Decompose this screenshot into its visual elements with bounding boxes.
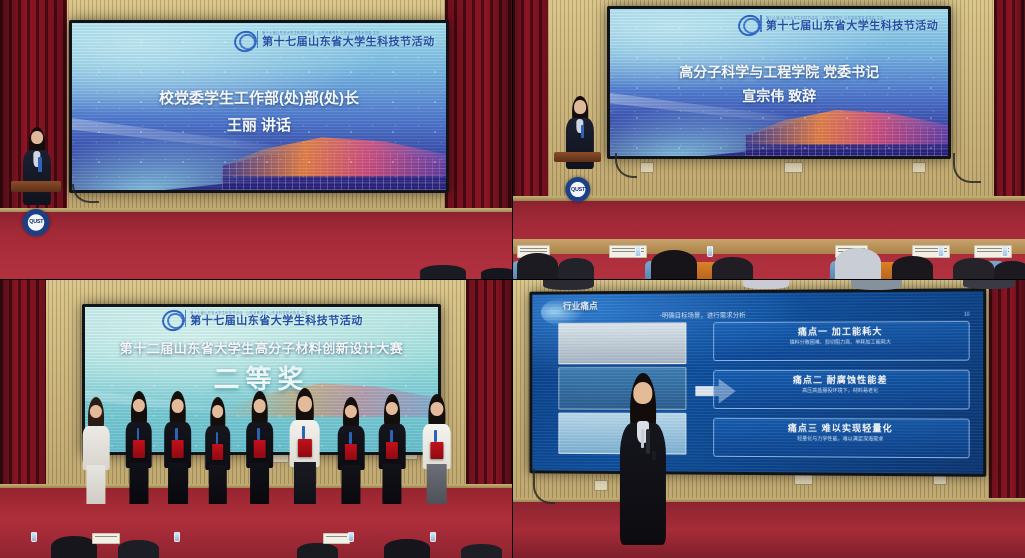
water-bottle [430,532,436,542]
foreground-head [963,279,1014,289]
water-bottle [707,246,713,257]
audience-person [297,543,338,558]
foreground-head [543,279,594,290]
competition-title: 第十二届山东省大学生高分子材料创新设计大赛 [85,340,438,358]
wall-socket [640,162,654,173]
presenter [620,382,666,538]
panel-bottom-right: 行业痛点 -明确目标场景，进行需求分析 10 痛点一 加工能耗大 填料分散困难、… [512,279,1025,558]
audience-person [953,258,994,279]
awardee [338,405,365,503]
award-certificate [345,444,357,461]
slide-title-line1: 高分子科学与工程学院 党委书记 [610,63,949,82]
audience-person [994,261,1025,279]
water-bottle [348,532,354,542]
slide-background: 行业痛点 -明确目标场景，进行需求分析 10 痛点一 加工能耗大 填料分散困难、… [532,291,983,473]
water-bottle [938,246,944,257]
pain-point-2: 痛点二 耐腐蚀性能差 高压高盐服役环境下，材料易老化 [713,370,969,410]
award-certificate [171,440,184,458]
audience-person [118,540,159,558]
awardee [379,402,406,502]
slide-title-line1: 校党委学生工作部(处)部(处)长 [72,89,446,109]
award-certificate [212,444,224,461]
audience-person [558,258,594,279]
audience-person [461,544,502,558]
name-placard [92,533,120,544]
panel-top-left: 第十七届山东省大学生科技节活动 · 山东省教育厅 山东省科学技术协会 主办 第十… [0,0,512,279]
clicker-icon [652,451,656,460]
slide-title-line2: 王丽 讲话 [72,116,446,136]
slide-title-line2: 宣宗伟 致辞 [610,87,949,106]
slide-background: 第十七届山东省大学生科技节活动 · 山东省教育厅 山东省科学技术协会 主办 第十… [610,9,949,157]
awardee [246,399,274,502]
audience-person [712,257,753,279]
water-bottle [1002,246,1008,257]
qust-emblem-icon: QUST [23,209,50,236]
science-festival-logo-icon [736,14,762,34]
award-certificate [430,442,443,459]
panel-bottom-left: 第十七届山东省大学生科技节活动 · 山东省教育厅 山东省科学技术协会 主办 第十… [0,279,512,558]
foreground-head [743,279,789,289]
water-bottle [635,246,641,257]
panel-top-right: 第十七届山东省大学生科技节活动 · 山东省教育厅 山东省科学技术协会 主办 第十… [512,0,1025,279]
name-placard [323,533,351,544]
pain-point-3-subtitle: 轻量化与力学性能，难以满足深海需求 [718,435,964,443]
pain-point-1-title: 痛点一 加工能耗大 [718,324,964,338]
emblem-text: QUST [571,187,585,192]
audience-person [51,536,97,558]
water-bottle [31,532,37,542]
pain-point-1-subtitle: 填料分散困难、剪切阻力高、单耗加工能耗大 [718,338,964,346]
award-certificate [253,440,266,458]
panel-divider-horizontal [0,279,1025,280]
slide-page-number: 10 [964,312,970,318]
wall-socket [794,474,813,485]
podium: QUST [14,173,58,268]
pain-point-3-title: 痛点三 难以实现轻量化 [718,421,964,435]
foreground-head [420,265,466,279]
pain-point-1: 痛点一 加工能耗大 填料分散困难、剪切阻力高、单耗加工能耗大 [713,321,969,361]
slide-subtitle: -明确目标场景，进行需求分析 [660,309,746,319]
awardee [164,399,192,502]
audience [512,218,1025,279]
audience-person [835,248,881,279]
pain-point-3: 痛点三 难以实现轻量化 轻量化与力学性能，难以满足深海需求 [713,418,969,459]
led-screen: 第十七届山东省大学生科技节活动 · 山东省教育厅 山东省科学技术协会 主办 第十… [607,6,952,160]
awardee [125,399,152,502]
audience-person [651,250,697,279]
science-festival-logo-icon [232,30,258,50]
awardee [422,402,451,502]
wall-socket [784,162,803,173]
audience-person [384,539,430,558]
slide-header: 第十七届山东省大学生科技节活动 · 山东省教育厅 山东省科学技术协会 主办 第十… [72,23,446,58]
award-certificate [298,439,312,457]
led-screen: 行业痛点 -明确目标场景，进行需求分析 10 痛点一 加工能耗大 填料分散困难、… [529,288,986,476]
audience-person [892,256,933,279]
foreground-head [481,268,512,279]
science-festival-logo-icon [160,309,186,329]
podium: QUST [557,145,598,229]
award-certificate [133,440,145,458]
led-screen: 第十七届山东省大学生科技节活动 · 山东省教育厅 山东省科学技术协会 主办 第十… [69,20,449,193]
photo-collage: 第十七届山东省大学生科技节活动 · 山东省教育厅 山东省科学技术协会 主办 第十… [0,0,1025,558]
awardee [205,405,231,503]
slide-header: 第十七届山东省大学生科技节活动 · 山东省教育厅 山东省科学技术协会 主办 第十… [85,307,438,332]
foreground-head [851,279,902,290]
emblem-text: QUST [29,220,43,225]
microphone-icon [646,429,649,454]
front-row-audience [0,527,512,558]
pain-point-2-subtitle: 高压高盐服役环境下，材料易老化 [718,387,964,394]
water-bottle [174,532,180,542]
slide-title: 行业痛点 [563,300,598,313]
awardee [83,405,110,503]
slide-background: 第十七届山东省大学生科技节活动 · 山东省教育厅 山东省科学技术协会 主办 第十… [72,23,446,190]
header-banner-text: 第十七届山东省大学生科技节活动 [766,21,939,32]
award-certificate [386,442,398,459]
thumb-industrial-reactor-equipment [558,322,686,365]
slide-header: 第十七届山东省大学生科技节活动 · 山东省教育厅 山东省科学技术协会 主办 第十… [610,9,949,40]
wall-socket [594,480,608,491]
header-banner-text: 第十七届山东省大学生科技节活动 [262,37,435,48]
wall-socket [912,162,926,173]
header-banner-text: 第十七届山东省大学生科技节活动 [190,316,363,327]
awardee [289,396,320,502]
pain-point-2-title: 痛点二 耐腐蚀性能差 [718,373,964,386]
name-placard [609,245,647,258]
audience-person [517,253,558,279]
stage-floor [512,502,1025,558]
